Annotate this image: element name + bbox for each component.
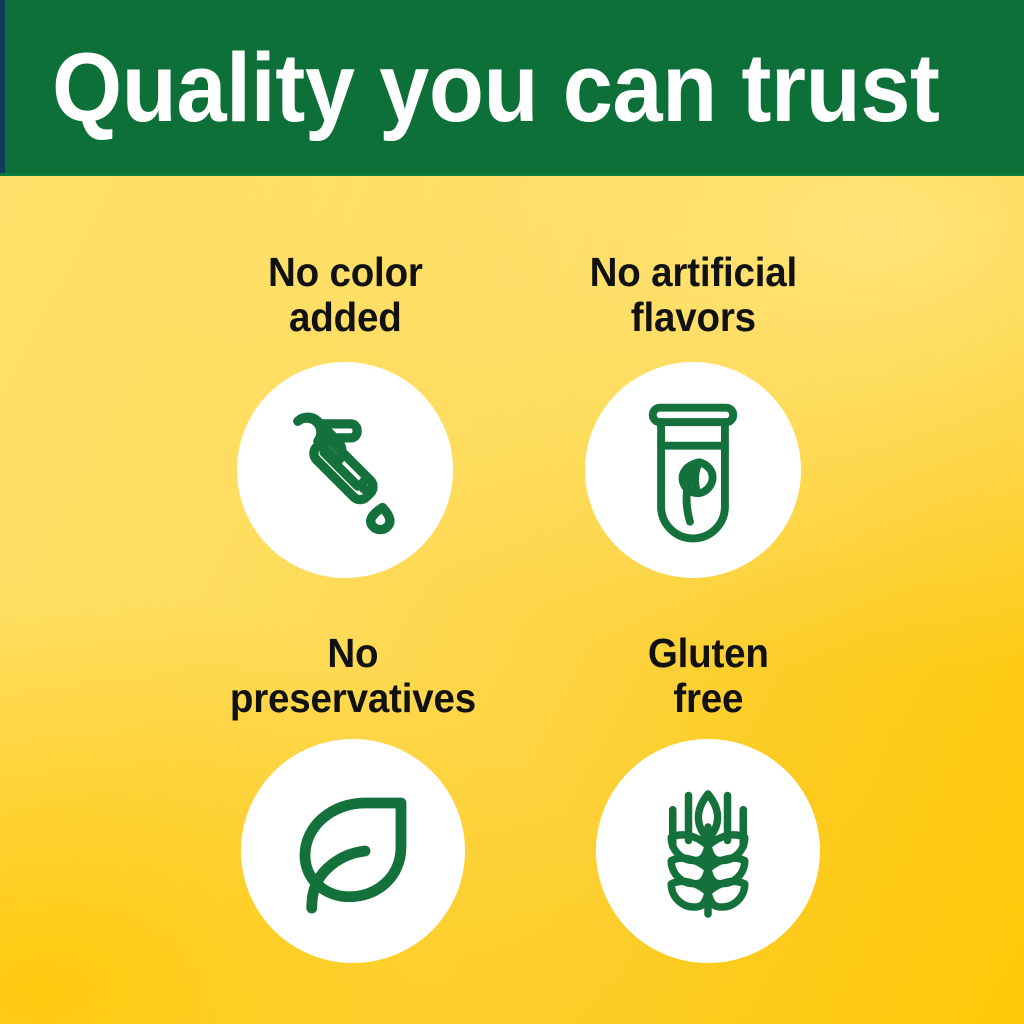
dropper-pipette-icon <box>270 395 420 545</box>
quality-badge-panel: Quality you can trust No color added <box>0 0 1024 1024</box>
test-tube-sprout-icon <box>617 394 769 546</box>
icon-circle <box>237 362 453 578</box>
feature-label: No color added <box>268 250 423 340</box>
icon-circle <box>241 739 465 963</box>
feature-no-preservatives: No preservatives <box>173 631 533 963</box>
feature-no-artificial-flavors: No artificial flavors <box>513 250 873 578</box>
feature-no-color-added: No color added <box>165 250 525 578</box>
feature-grid: No color added <box>0 176 1024 1024</box>
icon-circle <box>596 739 820 963</box>
header-banner: Quality you can trust <box>0 0 1024 176</box>
feature-label: Gluten free <box>648 631 769 721</box>
feature-label: No artificial flavors <box>589 250 796 340</box>
wheat-stalk-icon <box>633 776 783 926</box>
feature-label: No preservatives <box>230 631 476 721</box>
icon-circle <box>585 362 801 578</box>
page-title: Quality you can trust <box>52 32 945 144</box>
feature-gluten-free: Gluten free <box>528 631 888 963</box>
leaf-icon <box>278 776 428 926</box>
header-edge-stripe <box>0 0 5 176</box>
